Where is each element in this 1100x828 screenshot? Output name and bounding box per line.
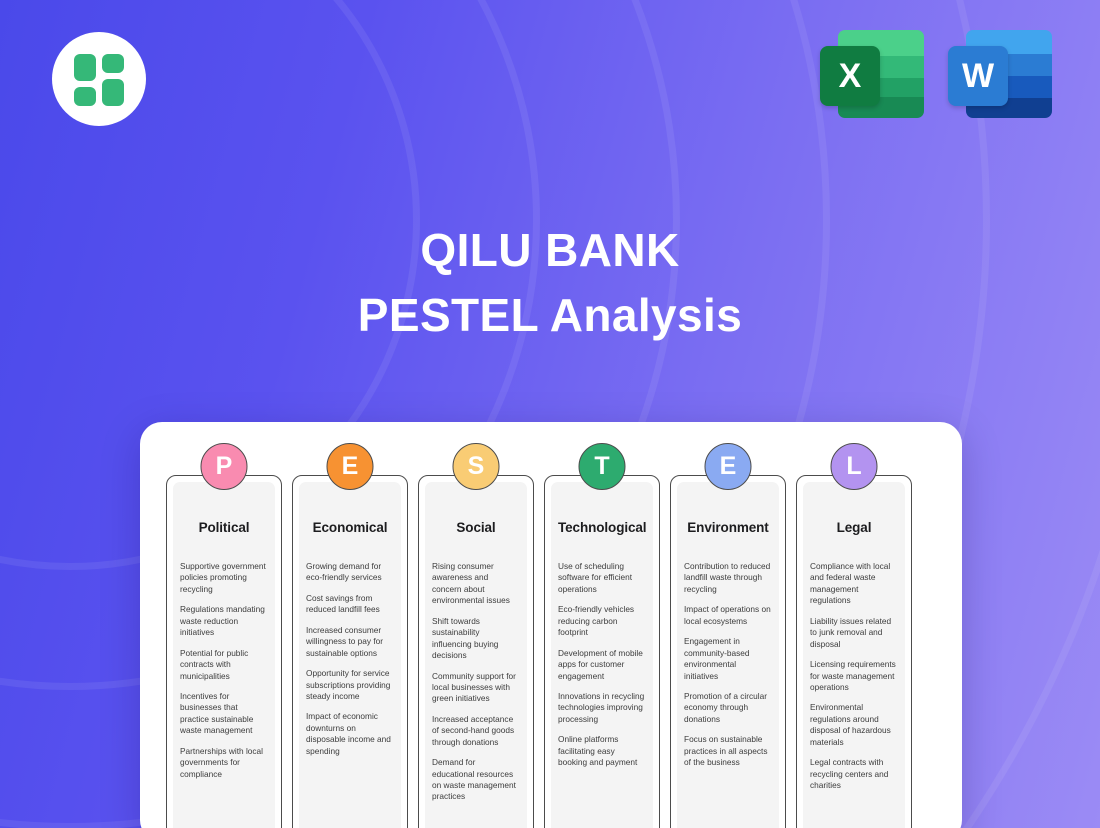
pestel-point-list: Growing demand for eco-friendly services…: [306, 561, 394, 757]
pestel-letter-badge: P: [201, 443, 248, 490]
pestel-point: Engagement in community-based environmen…: [684, 636, 772, 682]
pestel-card-environment[interactable]: EEnvironmentContribution to reduced land…: [670, 475, 786, 828]
slide-canvas: X W QILU BANK PESTEL Analysis PPolitical…: [0, 0, 1100, 828]
pestel-point: Eco-friendly vehicles reducing carbon fo…: [558, 604, 646, 638]
pestel-letter-badge: S: [453, 443, 500, 490]
pestel-point: Liability issues related to junk removal…: [810, 616, 898, 650]
pestel-card-political[interactable]: PPoliticalSupportive government policies…: [166, 475, 282, 828]
pestel-point: Shift towards sustainability influencing…: [432, 616, 520, 662]
pestel-point: Growing demand for eco-friendly services: [306, 561, 394, 584]
pestel-card-technological[interactable]: TTechnologicalUse of scheduling software…: [544, 475, 660, 828]
pestel-point: Impact of economic downturns on disposab…: [306, 711, 394, 757]
word-icon-letter: W: [948, 46, 1008, 106]
pestel-point: Rising consumer awareness and concern ab…: [432, 561, 520, 607]
pestel-card-legal[interactable]: LLegalCompliance with local and federal …: [796, 475, 912, 828]
pestel-card-title: Environment: [684, 520, 772, 535]
pestel-card-body: TechnologicalUse of scheduling software …: [551, 482, 653, 828]
excel-icon-letter: X: [820, 46, 880, 106]
pestel-point: Potential for public contracts with muni…: [180, 648, 268, 682]
pestel-card-body: EnvironmentContribution to reduced landf…: [677, 482, 779, 828]
pestel-card-title: Technological: [558, 520, 646, 535]
office-app-icons: X W: [820, 26, 1052, 122]
brand-logo[interactable]: [52, 32, 146, 126]
pestel-point: Partnerships with local governments for …: [180, 746, 268, 780]
page-title: QILU BANK PESTEL Analysis: [0, 218, 1100, 349]
pestel-point: Impact of operations on local ecosystems: [684, 604, 772, 627]
pestel-point: Community support for local businesses w…: [432, 671, 520, 705]
excel-icon[interactable]: X: [820, 26, 924, 122]
title-line-1: QILU BANK: [0, 218, 1100, 283]
pestel-point: Promotion of a circular economy through …: [684, 691, 772, 725]
pestel-point: Environmental regulations around disposa…: [810, 702, 898, 748]
pestel-letter-badge: T: [579, 443, 626, 490]
pestel-card-body: PoliticalSupportive government policies …: [173, 482, 275, 828]
pestel-point: Contribution to reduced landfill waste t…: [684, 561, 772, 595]
title-line-2: PESTEL Analysis: [0, 283, 1100, 348]
pestel-card-body: LegalCompliance with local and federal w…: [803, 482, 905, 828]
pestel-card-title: Economical: [306, 520, 394, 535]
pestel-letter-badge: E: [327, 443, 374, 490]
pestel-point: Online platforms facilitating easy booki…: [558, 734, 646, 768]
pestel-point: Use of scheduling software for efficient…: [558, 561, 646, 595]
pestel-point: Demand for educational resources on wast…: [432, 757, 520, 803]
pestel-point: Opportunity for service subscriptions pr…: [306, 668, 394, 702]
pestel-card-economical[interactable]: EEconomicalGrowing demand for eco-friend…: [292, 475, 408, 828]
pestel-point-list: Contribution to reduced landfill waste t…: [684, 561, 772, 769]
pestel-point: Incentives for businesses that practice …: [180, 691, 268, 737]
pestel-point: Licensing requirements for waste managem…: [810, 659, 898, 693]
pestel-point: Innovations in recycling technologies im…: [558, 691, 646, 725]
pestel-point: Increased acceptance of second-hand good…: [432, 714, 520, 748]
pestel-point-list: Supportive government policies promoting…: [180, 561, 268, 780]
pestel-card-title: Political: [180, 520, 268, 535]
pestel-point: Supportive government policies promoting…: [180, 561, 268, 595]
pestel-point: Compliance with local and federal waste …: [810, 561, 898, 607]
pestel-panel: PPoliticalSupportive government policies…: [140, 422, 962, 828]
pestel-letter-badge: L: [831, 443, 878, 490]
pestel-point-list: Use of scheduling software for efficient…: [558, 561, 646, 769]
pestel-card-title: Legal: [810, 520, 898, 535]
pestel-card-social[interactable]: SSocialRising consumer awareness and con…: [418, 475, 534, 828]
pestel-point: Legal contracts with recycling centers a…: [810, 757, 898, 791]
pestel-point: Development of mobile apps for customer …: [558, 648, 646, 682]
pestel-card-body: SocialRising consumer awareness and conc…: [425, 482, 527, 828]
pestel-point: Focus on sustainable practices in all as…: [684, 734, 772, 768]
pestel-columns: PPoliticalSupportive government policies…: [166, 475, 936, 828]
pestel-card-body: EconomicalGrowing demand for eco-friendl…: [299, 482, 401, 828]
pestel-point-list: Compliance with local and federal waste …: [810, 561, 898, 791]
word-icon[interactable]: W: [948, 26, 1052, 122]
pestel-point: Cost savings from reduced landfill fees: [306, 593, 394, 616]
pestel-card-title: Social: [432, 520, 520, 535]
pestel-letter-badge: E: [705, 443, 752, 490]
pestel-point: Increased consumer willingness to pay fo…: [306, 625, 394, 659]
pestel-point-list: Rising consumer awareness and concern ab…: [432, 561, 520, 803]
grid-logo-icon: [74, 54, 124, 104]
pestel-point: Regulations mandating waste reduction in…: [180, 604, 268, 638]
